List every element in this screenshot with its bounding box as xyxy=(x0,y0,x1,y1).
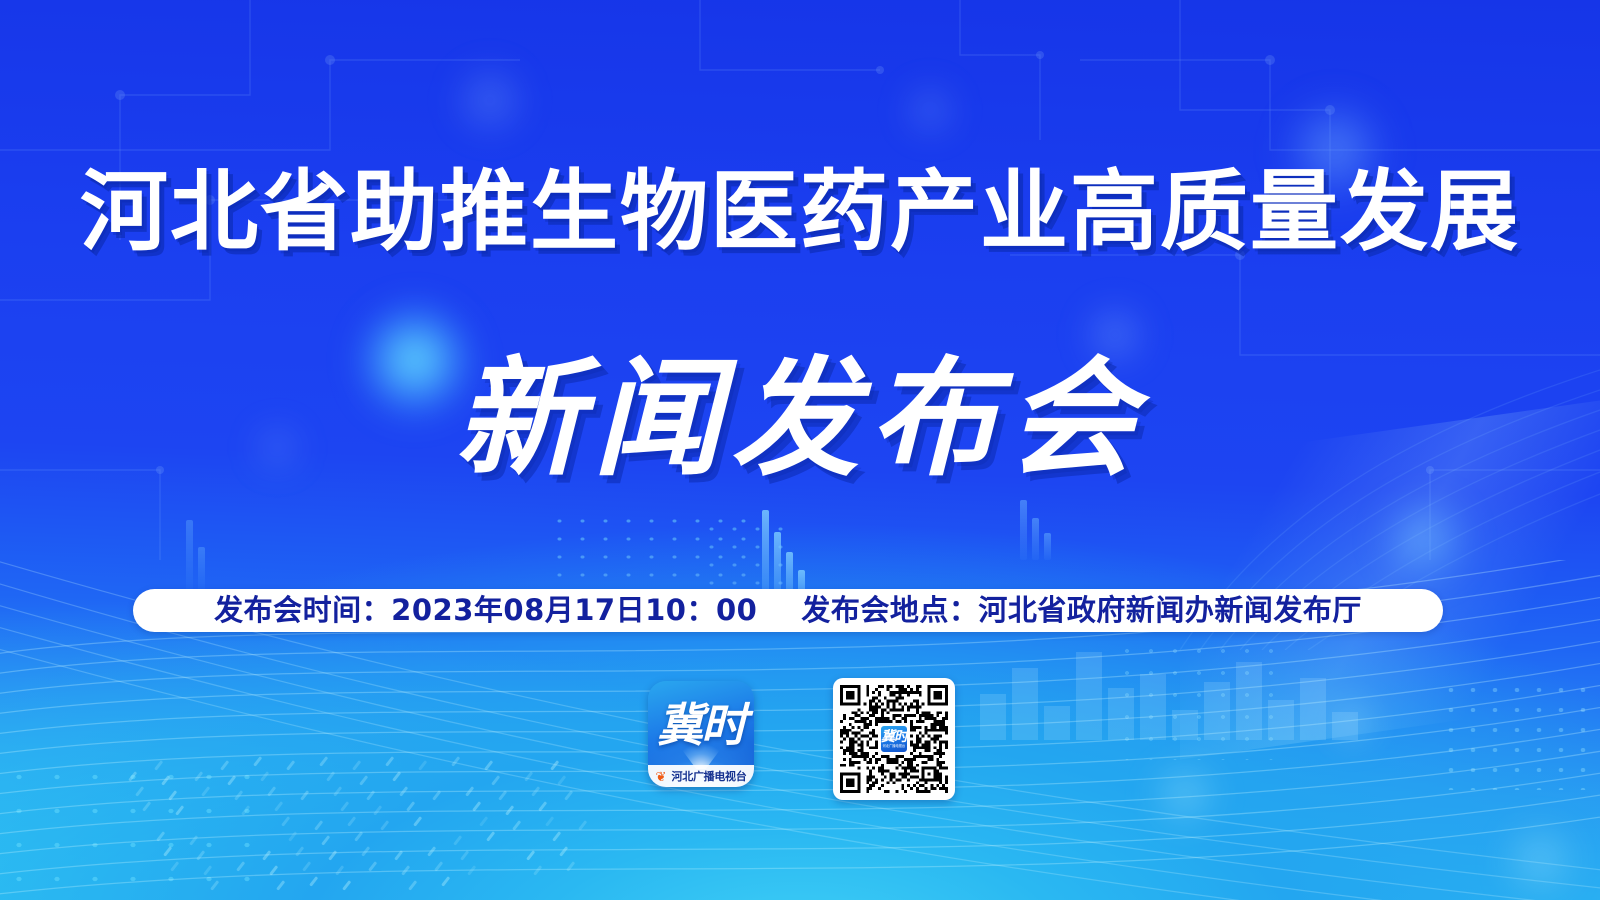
qr-center-caption: 河北广播电视台 xyxy=(883,745,906,748)
qr-center-logo: 冀时 河北广播电视台 xyxy=(879,724,909,754)
event-info-bar: 发布会时间：2023年08月17日10：00 发布会地点：河北省政府新闻办新闻发… xyxy=(133,589,1443,632)
qr-center-wordmark: 冀时 xyxy=(881,730,907,744)
glow-blob-decoration xyxy=(900,80,960,140)
event-time-text: 发布会时间：2023年08月17日10：00 xyxy=(214,596,757,625)
event-info-row: 发布会时间：2023年08月17日10：00 发布会地点：河北省政府新闻办新闻发… xyxy=(214,596,1362,625)
qr-code-image[interactable]: 冀时 河北广播电视台 xyxy=(840,685,948,793)
vertical-bars-decoration xyxy=(1020,500,1051,560)
jishi-wordmark: 冀时 xyxy=(648,685,754,759)
page-subtitle: 新闻发布会 xyxy=(0,356,1600,484)
broadcaster-logo-badge: 冀时 ❦ 河北广播电视台 xyxy=(648,681,754,787)
flame-icon: ❦ xyxy=(656,770,669,783)
broadcaster-name: 河北广播电视台 xyxy=(672,768,747,784)
glow-blob-decoration xyxy=(450,60,530,140)
qr-code-panel[interactable]: 冀时 河北广播电视台 xyxy=(833,678,955,800)
broadcaster-nameplate: ❦ 河北广播电视台 xyxy=(648,765,754,787)
event-place-text: 发布会地点：河北省政府新闻办新闻发布厅 xyxy=(801,596,1362,625)
page-title: 河北省助推生物医药产业高质量发展 xyxy=(0,168,1600,256)
poster-canvas: 河北省助推生物医药产业高质量发展 新闻发布会 发布会时间：2023年08月17日… xyxy=(0,0,1600,900)
